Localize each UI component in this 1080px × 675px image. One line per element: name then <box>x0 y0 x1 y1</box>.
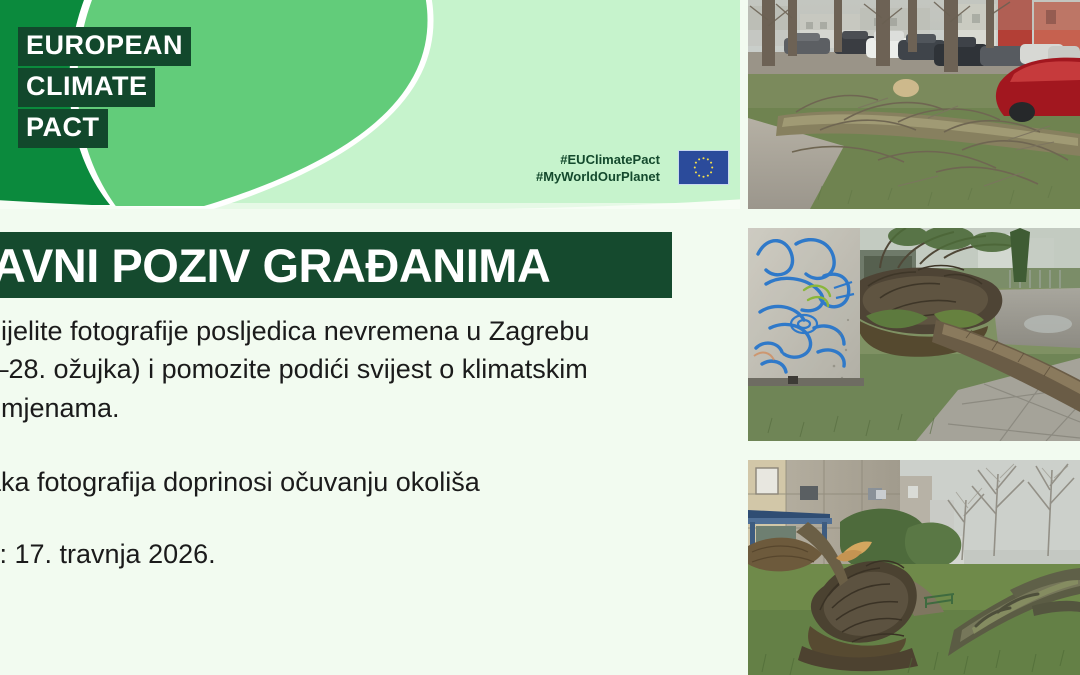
body-paragraph-1-line-3: omjenama. <box>0 389 716 427</box>
body-paragraph-2: aka fotografija doprinosi očuvanju okoli… <box>0 463 716 501</box>
european-union-flag-icon <box>678 150 729 185</box>
eu-flag-stars <box>679 151 728 184</box>
body-paragraph-1-line-1: dijelite fotografije posljedica nevremen… <box>0 312 716 350</box>
body-paragraph-1-line-2: .–28. ožujka) i pomozite podići svijest … <box>0 350 716 388</box>
logo-line-climate: CLIMATE <box>18 68 155 107</box>
logo-line-pact: PACT <box>18 109 108 148</box>
hashtag-block: #EUClimatePact #MyWorldOurPlanet <box>536 151 660 186</box>
page-title: AVNI POZIV GRAĐANIMA <box>0 242 550 289</box>
photo-3-image <box>748 460 1080 675</box>
body-paragraph-3-deadline: k: 17. travnja 2026. <box>0 535 716 573</box>
photo-storm-damage-1 <box>748 0 1080 209</box>
photo-1-image <box>748 0 1080 209</box>
storm-damage-photo-column <box>748 0 1080 675</box>
european-climate-pact-logo: EUROPEAN CLIMATE PACT <box>18 27 191 148</box>
logo-line-european: EUROPEAN <box>18 27 191 66</box>
photo-2-image <box>748 228 1080 441</box>
photo-storm-damage-3 <box>748 460 1080 675</box>
body-copy-block: dijelite fotografije posljedica nevremen… <box>0 312 716 574</box>
hashtag-euclimatepact: #EUClimatePact <box>536 151 660 168</box>
photo-storm-damage-2 <box>748 228 1080 441</box>
climate-pact-poster: EUROPEAN CLIMATE PACT #EUClimatePact #My… <box>0 0 1080 675</box>
hashtag-myworldourplanet: #MyWorldOurPlanet <box>536 168 660 185</box>
left-content-column: EUROPEAN CLIMATE PACT #EUClimatePact #My… <box>0 0 740 675</box>
title-banner: AVNI POZIV GRAĐANIMA <box>0 232 672 298</box>
